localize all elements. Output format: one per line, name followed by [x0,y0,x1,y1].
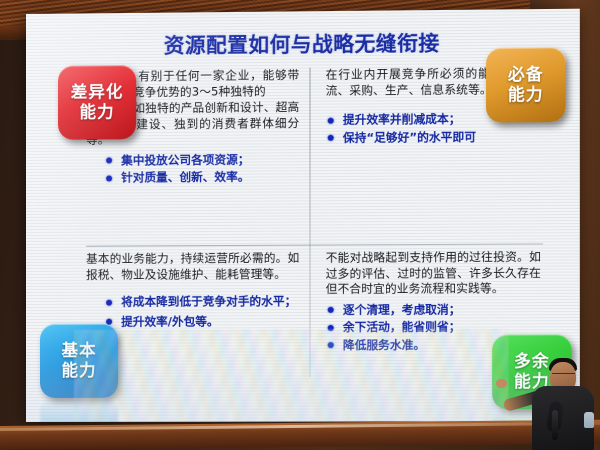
bullet-dot-icon [328,324,334,330]
bullet-dot-icon [328,342,334,348]
quadrant-bottom-left: 基本的业务能力，持续运营所必需的。如报税、物业及设施维护、能耗管理等。 将成本降… [86,251,299,332]
glasses-icon [552,373,575,378]
quadrant-grid: 有别于任何一家企业，能够带来可持续竞争优势的3～5种独特的 能力。例如独特的产品… [86,66,543,390]
projection-screen: 资源配置如何与战略无缝衔接 有别于任何一家企业，能够带来可持续竞争优势的3～5种… [26,9,580,422]
presenter [504,338,600,450]
list-item: 将成本降到低于竞争对手的水平； [104,294,299,310]
badge-red-line1: 差异化 [71,82,124,102]
badge-orange-line2: 能力 [508,85,544,105]
tl-bullet-1: 集中投放公司各项资源； [121,152,249,167]
vertical-divider [309,68,310,378]
list-item: 集中投放公司各项资源； [104,152,299,169]
br-bullet-2: 余下活动，能省则省； [343,319,461,333]
bullet-dot-icon [328,307,334,313]
tl-bullet-2: 针对质量、创新、效率。 [121,170,249,185]
list-item: 提升效率/外包等。 [104,314,299,330]
bullet-dot-icon [328,117,334,123]
bl-bullet-list: 将成本降到低于竞争对手的水平； 提升效率/外包等。 [104,294,299,330]
badge-red-line2: 能力 [80,102,115,122]
badge-blue-reflection [40,398,118,422]
bullet-dot-icon [328,135,334,141]
bullet-dot-icon [106,175,112,181]
bullet-dot-icon [106,299,112,305]
br-bullet-3: 降低服务水准。 [343,337,425,351]
horizontal-divider [86,243,543,246]
list-item: 余下活动，能省则省； [326,319,541,335]
badge-blue-line1: 基本 [62,341,97,361]
bl-bullet-1: 将成本降到低于竞争对手的水平； [121,294,296,309]
tr-bullet-2: 保持“足够好”的水平即可 [343,129,476,144]
badge-blue-line2: 能力 [62,361,97,381]
list-item: 保持“足够好”的水平即可 [326,129,541,146]
bullet-dot-icon [106,157,112,163]
list-item: 针对质量、创新、效率。 [104,169,299,186]
microphone-icon [552,410,558,440]
br-paragraph-1: 不能对战略起到支持作用的过往投资。如过多的评估、过时的监管、许多长久存在但不合时… [326,249,541,297]
badge-differentiating-capability: 差异化 能力 [58,65,136,140]
list-item: 逐个清理，考虑取消； [326,302,541,318]
slide-content: 资源配置如何与战略无缝衔接 有别于任何一家企业，能够带来可持续竞争优势的3～5种… [26,9,580,422]
photo-of-presentation: 资源配置如何与战略无缝衔接 有别于任何一家企业，能够带来可持续竞争优势的3～5种… [0,0,600,450]
badge-basic-capability: 基本 能力 [40,324,118,398]
water-bottle [584,412,594,428]
badge-essential-capability: 必备 能力 [486,47,566,122]
bl-bullet-2: 提升效率/外包等。 [121,314,219,328]
tl-bullet-list: 集中投放公司各项资源； 针对质量、创新、效率。 [104,152,299,186]
badge-orange-line1: 必备 [508,65,544,85]
bl-paragraph-1: 基本的业务能力，持续运营所必需的。如报税、物业及设施维护、能耗管理等。 [86,251,299,283]
presenter-pointing-hand [496,379,507,388]
br-bullet-1: 逐个清理，考虑取消； [343,302,461,317]
tr-bullet-1: 提升效率并削减成本； [343,112,461,127]
